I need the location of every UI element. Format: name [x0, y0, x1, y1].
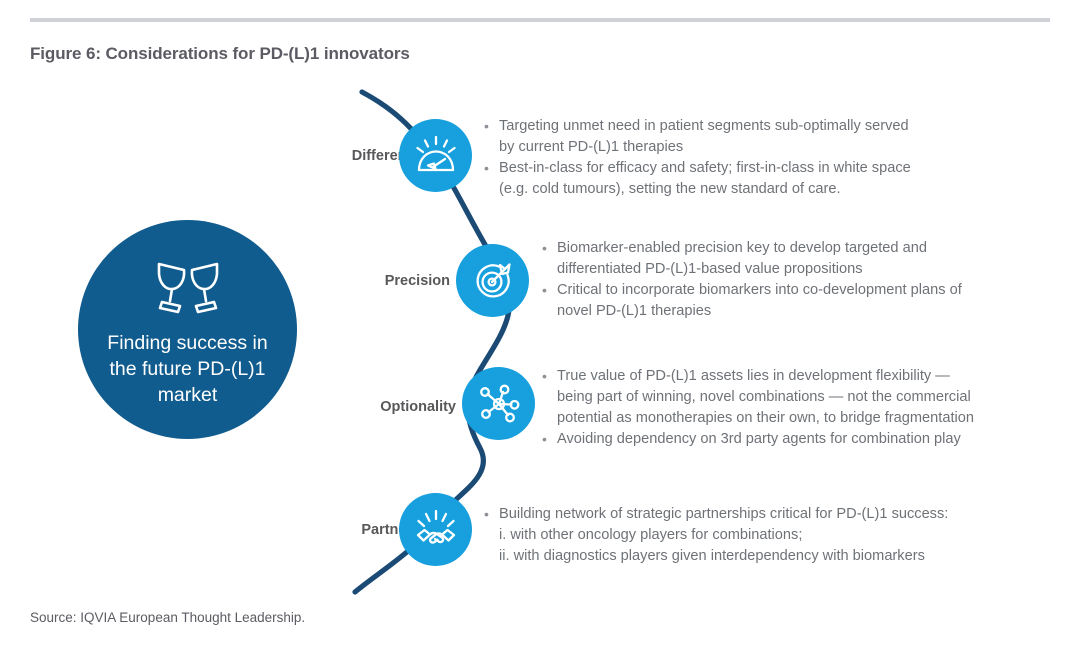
speedometer-icon	[414, 134, 458, 178]
bullet-line: being part of winning, novel combination…	[557, 387, 1062, 408]
bullet-block-precision: • Biomarker-enabled precision key to dev…	[542, 238, 1042, 322]
bullet-item: • True value of PD-(L)1 assets lies in d…	[542, 366, 1062, 429]
bullet-item: • Biomarker-enabled precision key to dev…	[542, 238, 1042, 280]
bullet-line: Avoiding dependency on 3rd party agents …	[557, 429, 1062, 450]
bullet-line: True value of PD-(L)1 assets lies in dev…	[557, 366, 1062, 387]
page-title: Figure 6: Considerations for PD-(L)1 inn…	[30, 44, 410, 64]
bullet-dot-icon: •	[542, 429, 557, 450]
bullet-item: • Avoiding dependency on 3rd party agent…	[542, 429, 1062, 450]
bullet-item: • Critical to incorporate biomarkers int…	[542, 280, 1042, 322]
source-note: Source: IQVIA European Thought Leadershi…	[30, 610, 305, 625]
bullet-item: • Building network of strategic partners…	[484, 504, 1044, 567]
toasting-glasses-icon	[149, 256, 227, 316]
bullet-line: Building network of strategic partnershi…	[499, 504, 1044, 525]
network-nodes-icon	[477, 382, 521, 426]
bullet-dot-icon: •	[484, 116, 499, 137]
bullet-line: by current PD-(L)1 therapies	[499, 137, 1044, 158]
node-circle-optionality	[462, 367, 535, 440]
bullet-item: • Targeting unmet need in patient segmen…	[484, 116, 1044, 158]
hero-text: Finding success in the future PD-(L)1 ma…	[93, 330, 283, 408]
bullet-line: Biomarker-enabled precision key to devel…	[557, 238, 1042, 259]
bullet-line: Targeting unmet need in patient segments…	[499, 116, 1044, 137]
bullet-block-partnerships: • Building network of strategic partners…	[484, 504, 1044, 567]
node-circle-differentiation	[399, 119, 472, 192]
bullet-line: ii. with diagnostics players given inter…	[499, 546, 1044, 567]
bullet-line: Critical to incorporate biomarkers into …	[557, 280, 1042, 301]
bullet-item: • Best-in-class for efficacy and safety;…	[484, 158, 1044, 200]
bullet-line: novel PD-(L)1 therapies	[557, 301, 1042, 322]
bullet-dot-icon: •	[484, 158, 499, 179]
node-circle-precision	[456, 244, 529, 317]
bullet-dot-icon: •	[484, 504, 499, 525]
bullet-dot-icon: •	[542, 366, 557, 387]
top-divider-rule	[30, 18, 1050, 22]
bullet-line: differentiated PD-(L)1-based value propo…	[557, 259, 1042, 280]
bullet-dot-icon: •	[542, 280, 557, 301]
bullet-line: Best-in-class for efficacy and safety; f…	[499, 158, 1044, 179]
handshake-icon	[414, 508, 458, 552]
bullet-line: (e.g. cold tumours), setting the new sta…	[499, 179, 1044, 200]
bullet-block-differentiation: • Targeting unmet need in patient segmen…	[484, 116, 1044, 200]
bullet-dot-icon: •	[542, 238, 557, 259]
target-arrow-icon	[471, 259, 515, 303]
node-circle-partnerships	[399, 493, 472, 566]
node-label-precision: Precision	[250, 273, 450, 289]
node-label-optionality: Optionality	[256, 399, 456, 415]
bullet-line: i. with other oncology players for combi…	[499, 525, 1044, 546]
figure-canvas: Figure 6: Considerations for PD-(L)1 inn…	[0, 0, 1080, 664]
bullet-line: potential as monotherapies on their own,…	[557, 408, 1062, 429]
bullet-block-optionality: • True value of PD-(L)1 assets lies in d…	[542, 366, 1062, 450]
